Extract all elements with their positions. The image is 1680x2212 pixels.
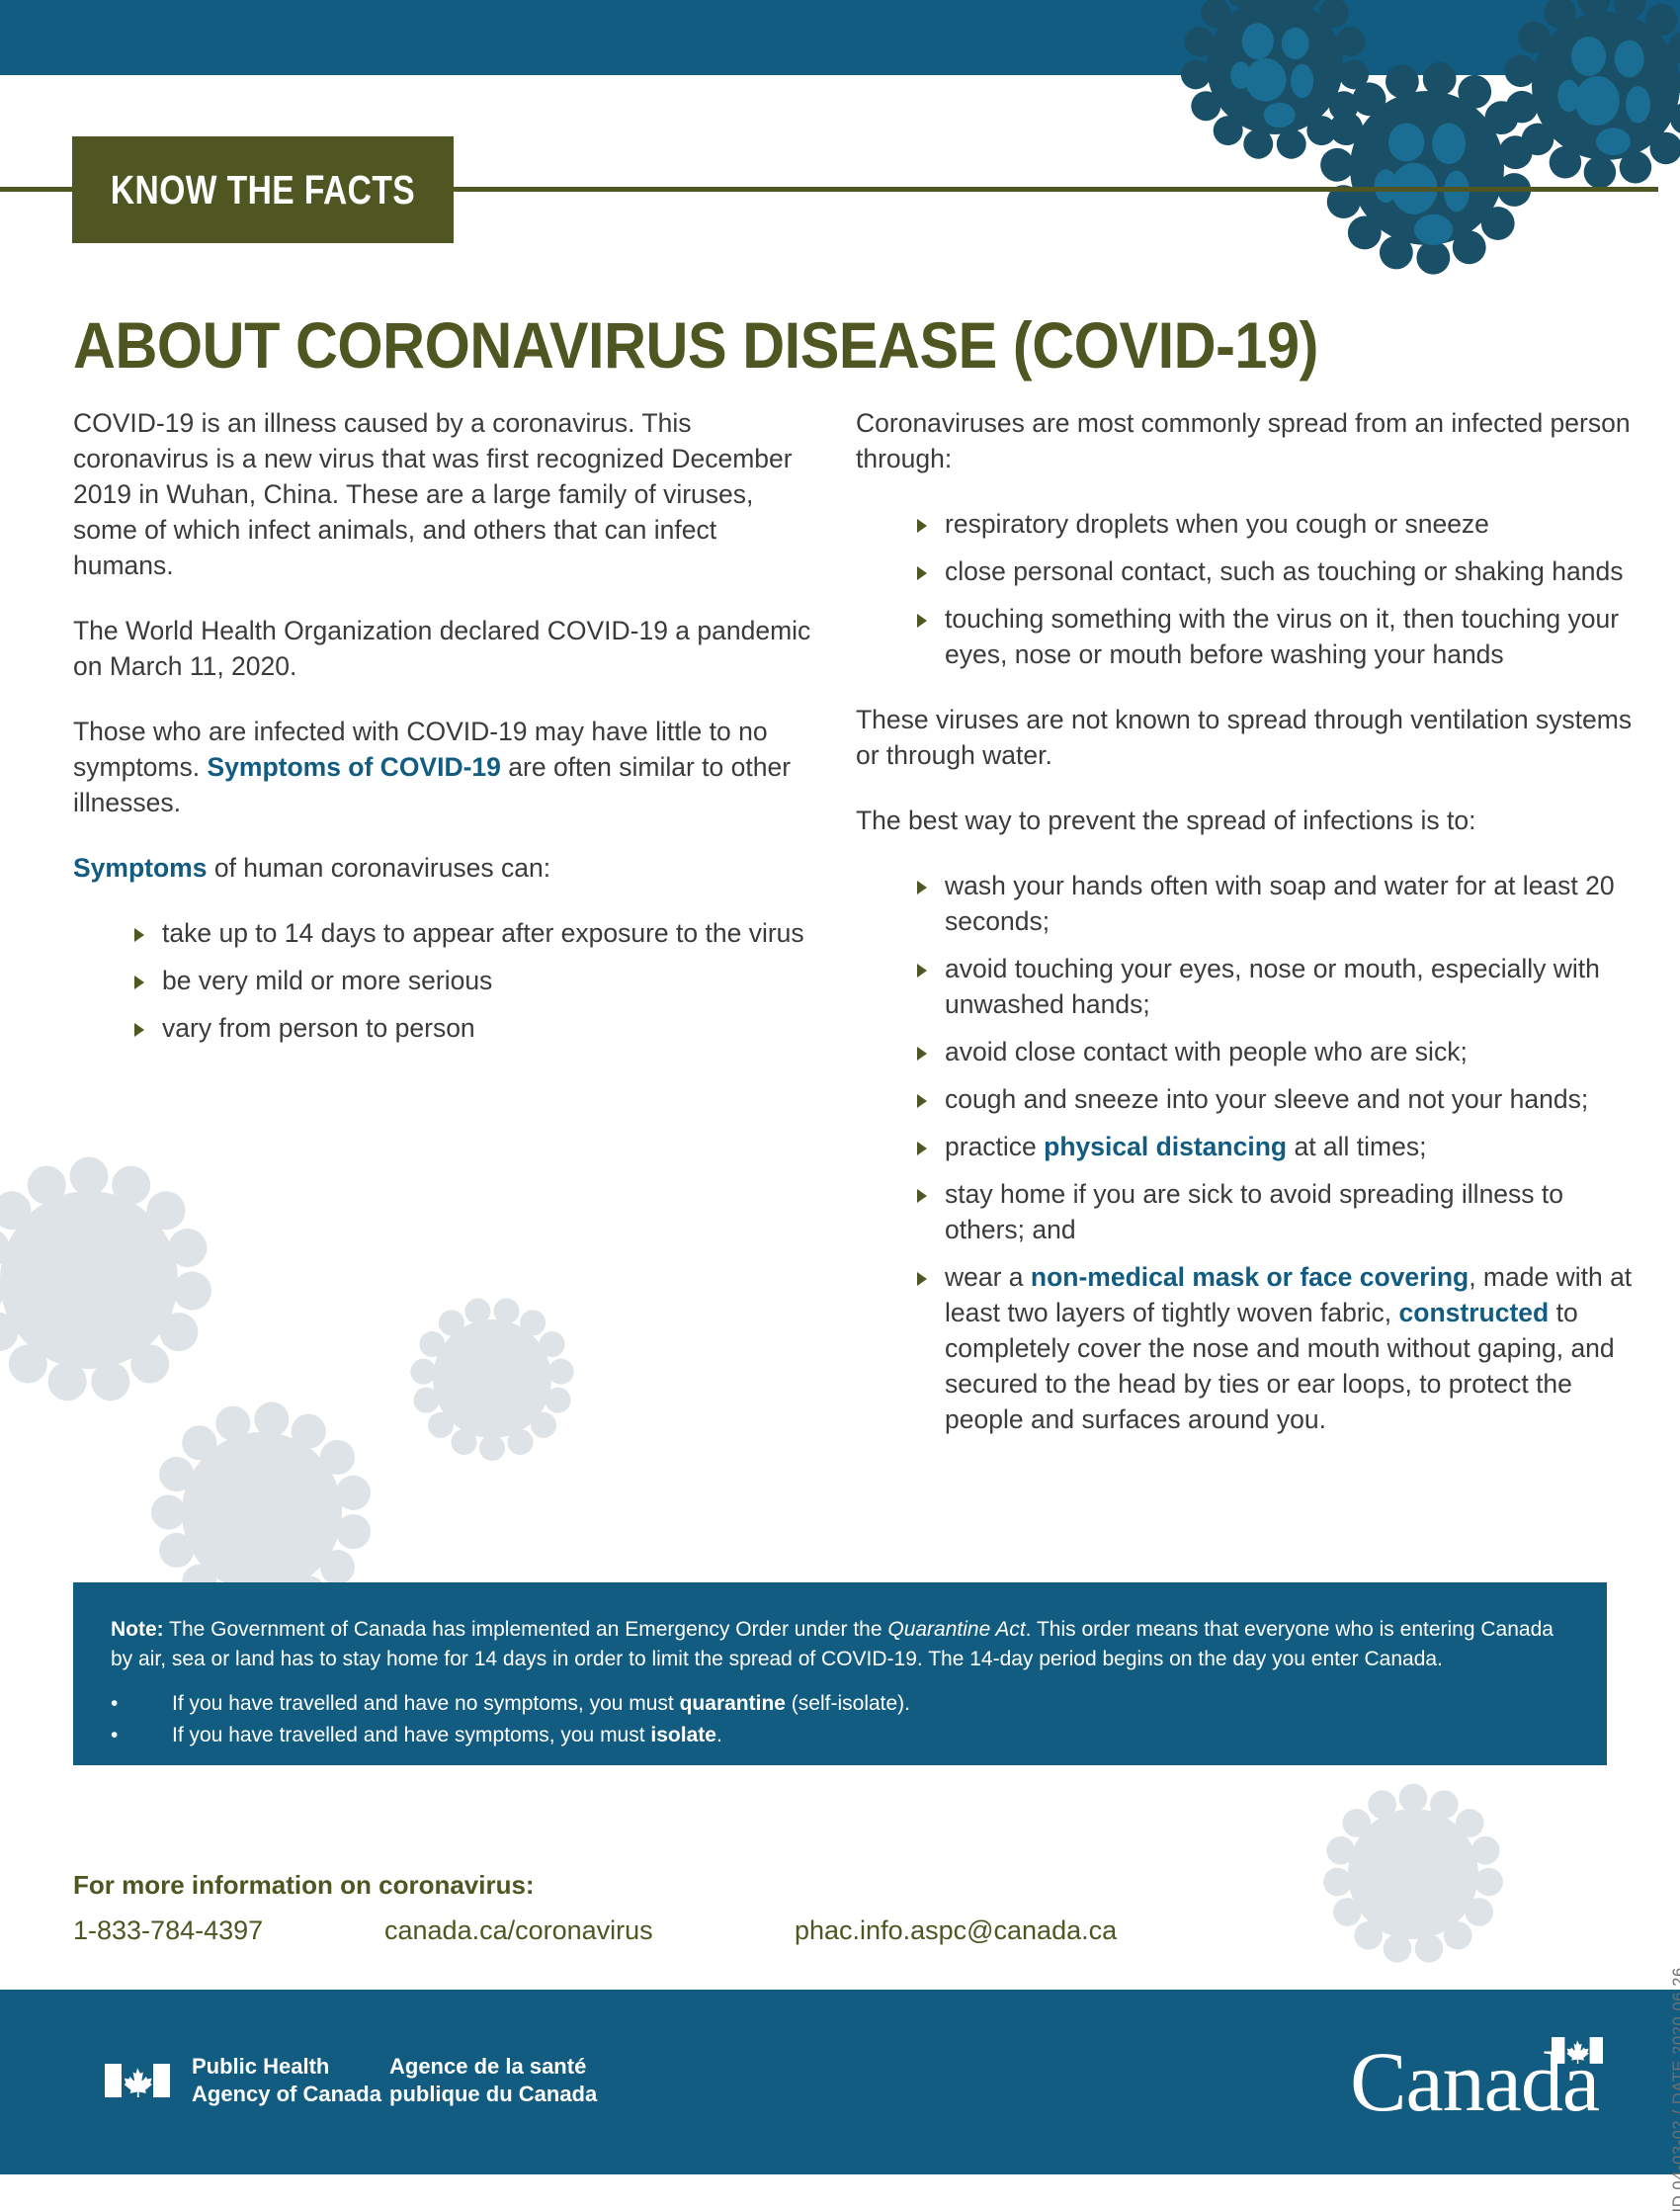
note-bullet-list: If you have travelled and have no sympto… [111,1688,1569,1751]
symptoms-list: take up to 14 days to appear after expos… [73,915,824,1046]
contact-phone[interactable]: 1-833-784-4397 [73,1914,384,1947]
note-bullet-2-a: If you have travelled and have symptoms,… [172,1724,650,1746]
list-item: wash your hands often with soap and wate… [917,868,1637,939]
phac-wordmark-text: Public Health Agency of Canada Agence de… [192,2053,597,2108]
virus-ghost-bottom-right [1304,1765,1522,1983]
document-id-vertical: ID 04-03-02 / DATE 2020.06.26 [1670,1967,1680,2212]
eyebrow-section: KNOW THE FACTS [0,136,1680,243]
phac-fr-line2: publique du Canada [389,2081,597,2108]
link-non-medical-mask[interactable]: non-medical mask or face covering [1031,1262,1469,1292]
paragraph-prevent-intro-text: The best way to prevent the spread of in… [856,806,1476,835]
note-bullet-1-a: If you have travelled and have no sympto… [172,1692,680,1715]
top-blue-band [0,0,1680,75]
list-item: cough and sneeze into your sleeve and no… [917,1081,1637,1117]
paragraph-ventilation-text: These viruses are not known to spread th… [856,705,1632,770]
paragraph-symptoms-can: Symptoms of human coronaviruses can: [73,850,824,886]
note-paragraph: Note: The Government of Canada has imple… [111,1615,1569,1674]
canada-flag-icon [105,2064,170,2097]
eyebrow-badge: KNOW THE FACTS [72,136,454,243]
paragraph-what-is-covid: COVID-19 is an illness caused by a coron… [73,405,824,583]
left-column: COVID-19 is an illness caused by a coron… [73,405,824,1075]
list-item: avoid close contact with people who are … [917,1034,1637,1069]
right-column: Coronaviruses are most commonly spread f… [856,405,1637,1467]
list-item: avoid touching your eyes, nose or mouth,… [917,951,1637,1022]
footer-bar: Public Health Agency of Canada Agence de… [0,1990,1680,2174]
note-bullet-1-bold: quarantine [680,1692,786,1715]
poster-page: KNOW THE FACTS ABOUT CORONAVIRUS DISEASE… [0,0,1680,2174]
virus-ghost-large-left [0,1132,237,1428]
link-constructed[interactable]: constructed [1399,1298,1550,1327]
canada-wordmark: Canada [1350,2039,1599,2124]
list-item: stay home if you are sick to avoid sprea… [917,1176,1637,1247]
list-item: touching something with the virus on it,… [917,601,1637,672]
list-item-quarantine: If you have travelled and have no sympto… [111,1688,1569,1720]
prevent-distancing-b: at all times; [1287,1132,1426,1161]
spread-list: respiratory droplets when you cough or s… [856,506,1637,672]
phac-en-line1: Public Health [192,2053,389,2081]
link-symptoms-of-covid19[interactable]: Symptoms of COVID-19 [207,752,500,782]
prevent-mask-a: wear a [945,1262,1031,1292]
list-item: vary from person to person [134,1010,824,1046]
phac-french: Agence de la santé publique du Canada [389,2053,597,2108]
list-item: be very mild or more serious [134,963,824,998]
contact-website[interactable]: canada.ca/coronavirus [384,1914,795,1947]
list-item-isolate: If you have travelled and have symptoms,… [111,1720,1569,1751]
canada-wordmark-flag-icon [1552,2037,1603,2064]
phac-english: Public Health Agency of Canada [192,2053,389,2108]
prevention-list: wash your hands often with soap and wate… [856,868,1637,1437]
list-item: close personal contact, such as touching… [917,553,1637,589]
note-bullet-2-b: . [716,1724,722,1746]
paragraph-spread-intro-text: Coronaviruses are most commonly spread f… [856,408,1631,473]
paragraph-spread-intro: Coronaviruses are most commonly spread f… [856,405,1637,476]
contact-email[interactable]: phac.info.aspc@canada.ca [795,1914,1117,1947]
phac-fr-line1: Agence de la santé [389,2053,597,2081]
paragraph-prevent-intro: The best way to prevent the spread of in… [856,803,1637,838]
virus-ghost-small-left [393,1280,591,1478]
note-bullet-2-bold: isolate [650,1724,716,1746]
contact-row: 1-833-784-4397 canada.ca/coronavirus pha… [73,1914,1259,1947]
link-physical-distancing[interactable]: physical distancing [1044,1132,1287,1161]
paragraph-who-pandemic: The World Health Organization declared C… [73,613,824,684]
prevent-distancing-a: practice [945,1132,1044,1161]
page-title: ABOUT CORONAVIRUS DISEASE (COVID-19) [73,312,1318,378]
contact-heading: For more information on coronavirus: [73,1868,1259,1902]
note-text-a: The Government of Canada has implemented… [164,1618,888,1641]
list-item-physical-distancing: practice physical distancing at all time… [917,1129,1637,1164]
paragraph-symptoms-similar: Those who are infected with COVID-19 may… [73,714,824,820]
note-box: Note: The Government of Canada has imple… [73,1582,1607,1765]
paragraph-what-is-covid-text: COVID-19 is an illness caused by a coron… [73,408,793,580]
link-symptoms[interactable]: Symptoms [73,853,207,883]
phac-logo: Public Health Agency of Canada Agence de… [105,2053,597,2108]
note-label: Note: [111,1618,164,1641]
phac-en-line2: Agency of Canada [192,2081,389,2108]
list-item-mask: wear a non-medical mask or face covering… [917,1259,1637,1437]
note-act-italic: Quarantine Act [887,1618,1025,1641]
note-bullet-1-b: (self-isolate). [786,1692,910,1715]
list-item: take up to 14 days to appear after expos… [134,915,824,951]
paragraph-ventilation: These viruses are not known to spread th… [856,702,1637,773]
paragraph-symptoms-can-b: of human coronaviruses can: [207,853,550,883]
contact-section: For more information on coronavirus: 1-8… [73,1868,1259,1947]
paragraph-who-pandemic-text: The World Health Organization declared C… [73,616,810,681]
eyebrow-label: KNOW THE FACTS [111,167,415,213]
list-item: respiratory droplets when you cough or s… [917,506,1637,542]
